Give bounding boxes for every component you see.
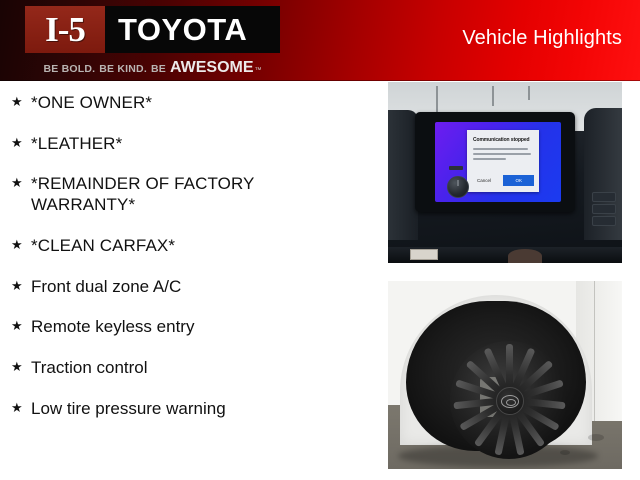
screen-bezel: Communication stopped Cancel OK <box>415 112 575 212</box>
tagline-awesome: AWESOME <box>170 59 254 77</box>
ok-button[interactable]: OK <box>503 175 534 186</box>
logo-i5-text: I-5 <box>45 12 85 47</box>
list-item: ★ *REMAINDER OF FACTORY WARRANTY* <box>8 174 380 215</box>
dealer-logo[interactable]: I-5 TOYOTA BE BOLD. BE KIND. BE AWESOME … <box>25 6 280 74</box>
air-vent-icon <box>592 216 616 226</box>
highlights-list: ★ *ONE OWNER* ★ *LEATHER* ★ *REMAINDER O… <box>0 81 380 420</box>
dashboard-left-trim <box>388 110 418 240</box>
list-item: ★ *ONE OWNER* <box>8 93 380 114</box>
logo-toyota-box: TOYOTA <box>105 6 280 53</box>
highlight-text: *CLEAN CARFAX* <box>31 236 361 257</box>
cancel-button[interactable]: Cancel <box>473 176 495 185</box>
star-bullet-icon: ★ <box>8 277 31 296</box>
star-bullet-icon: ★ <box>8 399 31 418</box>
volume-knob[interactable] <box>447 176 469 198</box>
dash-label-plate <box>410 249 438 260</box>
message-line <box>473 148 528 150</box>
list-item: ★ *CLEAN CARFAX* <box>8 236 380 257</box>
highlight-text: Front dual zone A/C <box>31 277 361 298</box>
list-item: ★ Front dual zone A/C <box>8 277 380 298</box>
logo-tagline: BE BOLD. BE KIND. BE AWESOME ™ <box>25 59 280 77</box>
highlight-text: Traction control <box>31 358 361 379</box>
dialog-message <box>473 148 533 163</box>
logo-toyota-text: TOYOTA <box>118 14 247 45</box>
utility-pole-icon <box>528 86 530 100</box>
highlight-text: Remote keyless entry <box>31 317 361 338</box>
star-bullet-icon: ★ <box>8 134 31 153</box>
tire <box>406 301 586 451</box>
dialog-title: Communication stopped <box>473 137 533 143</box>
toyota-emblem-icon <box>501 395 519 408</box>
utility-pole-icon <box>492 86 494 106</box>
page-title: Vehicle Highlights <box>462 27 622 50</box>
list-item: ★ Remote keyless entry <box>8 317 380 338</box>
air-vent-icon <box>592 204 616 214</box>
trademark-icon: ™ <box>255 67 262 74</box>
list-item: ★ Low tire pressure warning <box>8 399 380 420</box>
highlight-text: *REMAINDER OF FACTORY WARRANTY* <box>31 174 361 215</box>
logo-wordmark-row: I-5 TOYOTA <box>25 6 280 53</box>
star-bullet-icon: ★ <box>8 236 31 255</box>
tagline-be-kind: BE KIND. <box>99 63 147 75</box>
star-bullet-icon: ★ <box>8 174 31 193</box>
highlight-text: *ONE OWNER* <box>31 93 361 114</box>
alloy-rim <box>450 341 568 459</box>
list-item: ★ *LEATHER* <box>8 134 380 155</box>
message-line <box>473 158 506 160</box>
wheel-photo[interactable] <box>388 281 622 469</box>
panel-gap-line <box>594 281 596 421</box>
dialog-buttons: Cancel OK <box>473 175 534 186</box>
screen-side-button[interactable] <box>449 166 463 170</box>
header-banner: I-5 TOYOTA BE BOLD. BE KIND. BE AWESOME … <box>0 0 640 81</box>
vehicle-highlights-page: I-5 TOYOTA BE BOLD. BE KIND. BE AWESOME … <box>0 0 640 480</box>
highlight-text: Low tire pressure warning <box>31 399 361 420</box>
content-area: ★ *ONE OWNER* ★ *LEATHER* ★ *REMAINDER O… <box>0 81 640 480</box>
logo-i5-badge: I-5 <box>25 6 105 53</box>
communication-dialog[interactable]: Communication stopped Cancel OK <box>467 130 539 192</box>
pavement-mark <box>560 450 570 455</box>
vehicle-photo-column: Communication stopped Cancel OK <box>388 82 622 469</box>
wheel-hub <box>496 387 524 415</box>
foreground-object <box>508 249 542 263</box>
tagline-be: BE <box>151 63 166 75</box>
message-line <box>473 153 531 155</box>
tagline-be-bold: BE BOLD. <box>43 63 95 75</box>
list-item: ★ Traction control <box>8 358 380 379</box>
pavement-mark <box>588 434 604 441</box>
highlight-text: *LEATHER* <box>31 134 361 155</box>
star-bullet-icon: ★ <box>8 93 31 112</box>
star-bullet-icon: ★ <box>8 358 31 377</box>
utility-pole-icon <box>436 86 438 114</box>
star-bullet-icon: ★ <box>8 317 31 336</box>
dashboard-right-trim <box>584 108 622 240</box>
air-vent-icon <box>592 192 616 202</box>
infotainment-photo[interactable]: Communication stopped Cancel OK <box>388 82 622 263</box>
